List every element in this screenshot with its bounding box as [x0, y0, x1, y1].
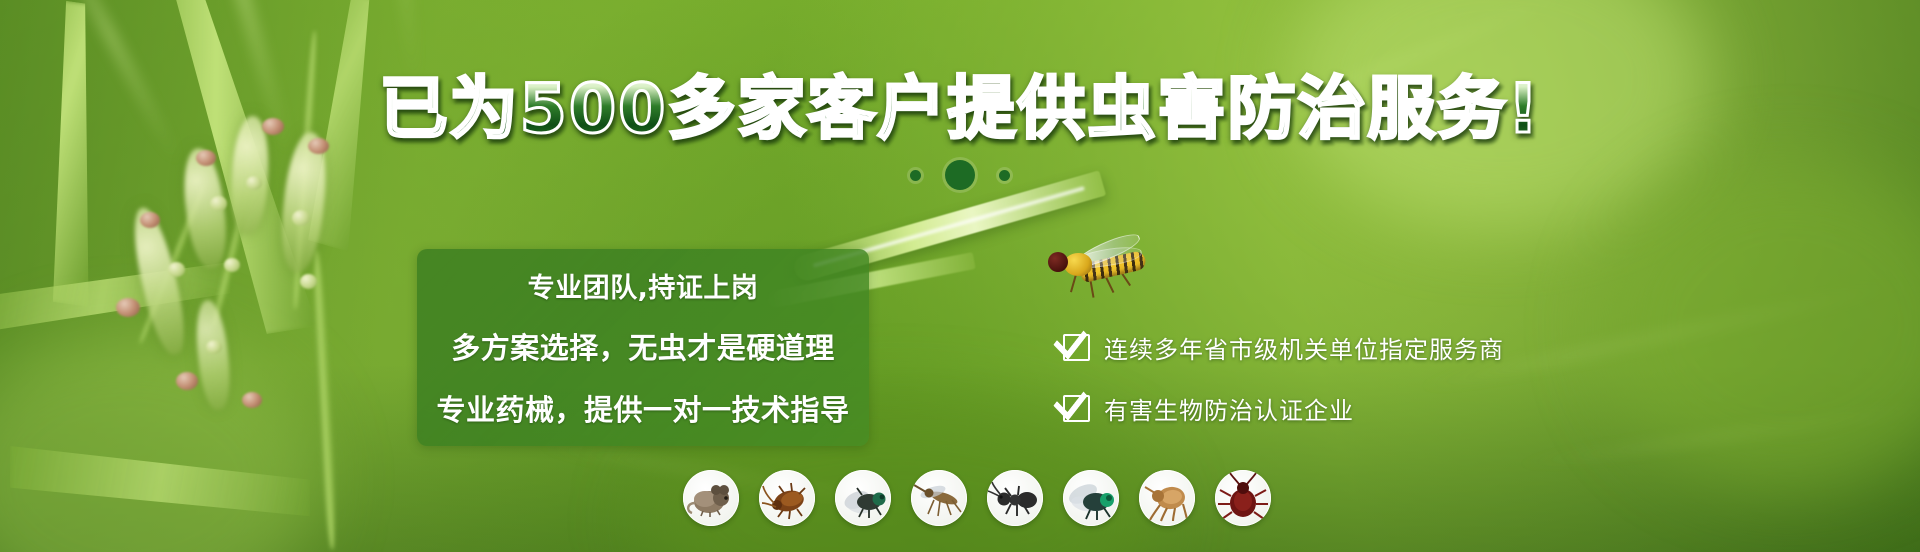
blowfly-icon — [1063, 470, 1119, 526]
certification-bullet-list: 连续多年省市级机关单位指定服务商 有害生物防治认证企业 — [1063, 330, 1504, 426]
mouse-icon — [683, 470, 739, 526]
list-item: 连续多年省市级机关单位指定服务商 — [1063, 330, 1504, 365]
panel-line-3: 专业药械，提供一对一技术指导 — [431, 387, 855, 429]
bullet-label: 连续多年省市级机关单位指定服务商 — [1104, 330, 1504, 365]
selling-points-panel: 专业团队,持证上岗 多方案选择，无虫才是硬道理 专业药械，提供一对一技术指导 — [417, 249, 869, 446]
ant-icon — [987, 470, 1043, 526]
fly-icon — [835, 470, 891, 526]
dot-icon-small-left — [910, 170, 921, 181]
checkbox-checked-icon — [1063, 395, 1090, 422]
list-item: 有害生物防治认证企业 — [1063, 391, 1504, 426]
panel-line-2: 多方案选择，无虫才是硬道理 — [431, 325, 855, 367]
checkbox-checked-icon — [1063, 334, 1090, 361]
panel-line-1: 专业团队,持证上岗 — [431, 266, 855, 305]
pest-icon-row — [683, 470, 1271, 526]
hoverfly-photo — [1040, 243, 1160, 301]
bullet-label: 有害生物防治认证企业 — [1104, 391, 1354, 426]
dot-icon-large — [945, 160, 975, 190]
cockroach-icon — [759, 470, 815, 526]
headline-dot-group — [0, 160, 1920, 190]
pest-control-banner: 已为500多家客户提供虫害防治服务! 已为500多家客户提供虫害防治服务! 专业… — [0, 0, 1920, 552]
mosquito-icon — [911, 470, 967, 526]
bedbug-icon — [1215, 470, 1271, 526]
page-title: 已为500多家客户提供虫害防治服务! — [0, 76, 1920, 144]
flea-icon — [1139, 470, 1195, 526]
dot-icon-small-right — [999, 170, 1010, 181]
